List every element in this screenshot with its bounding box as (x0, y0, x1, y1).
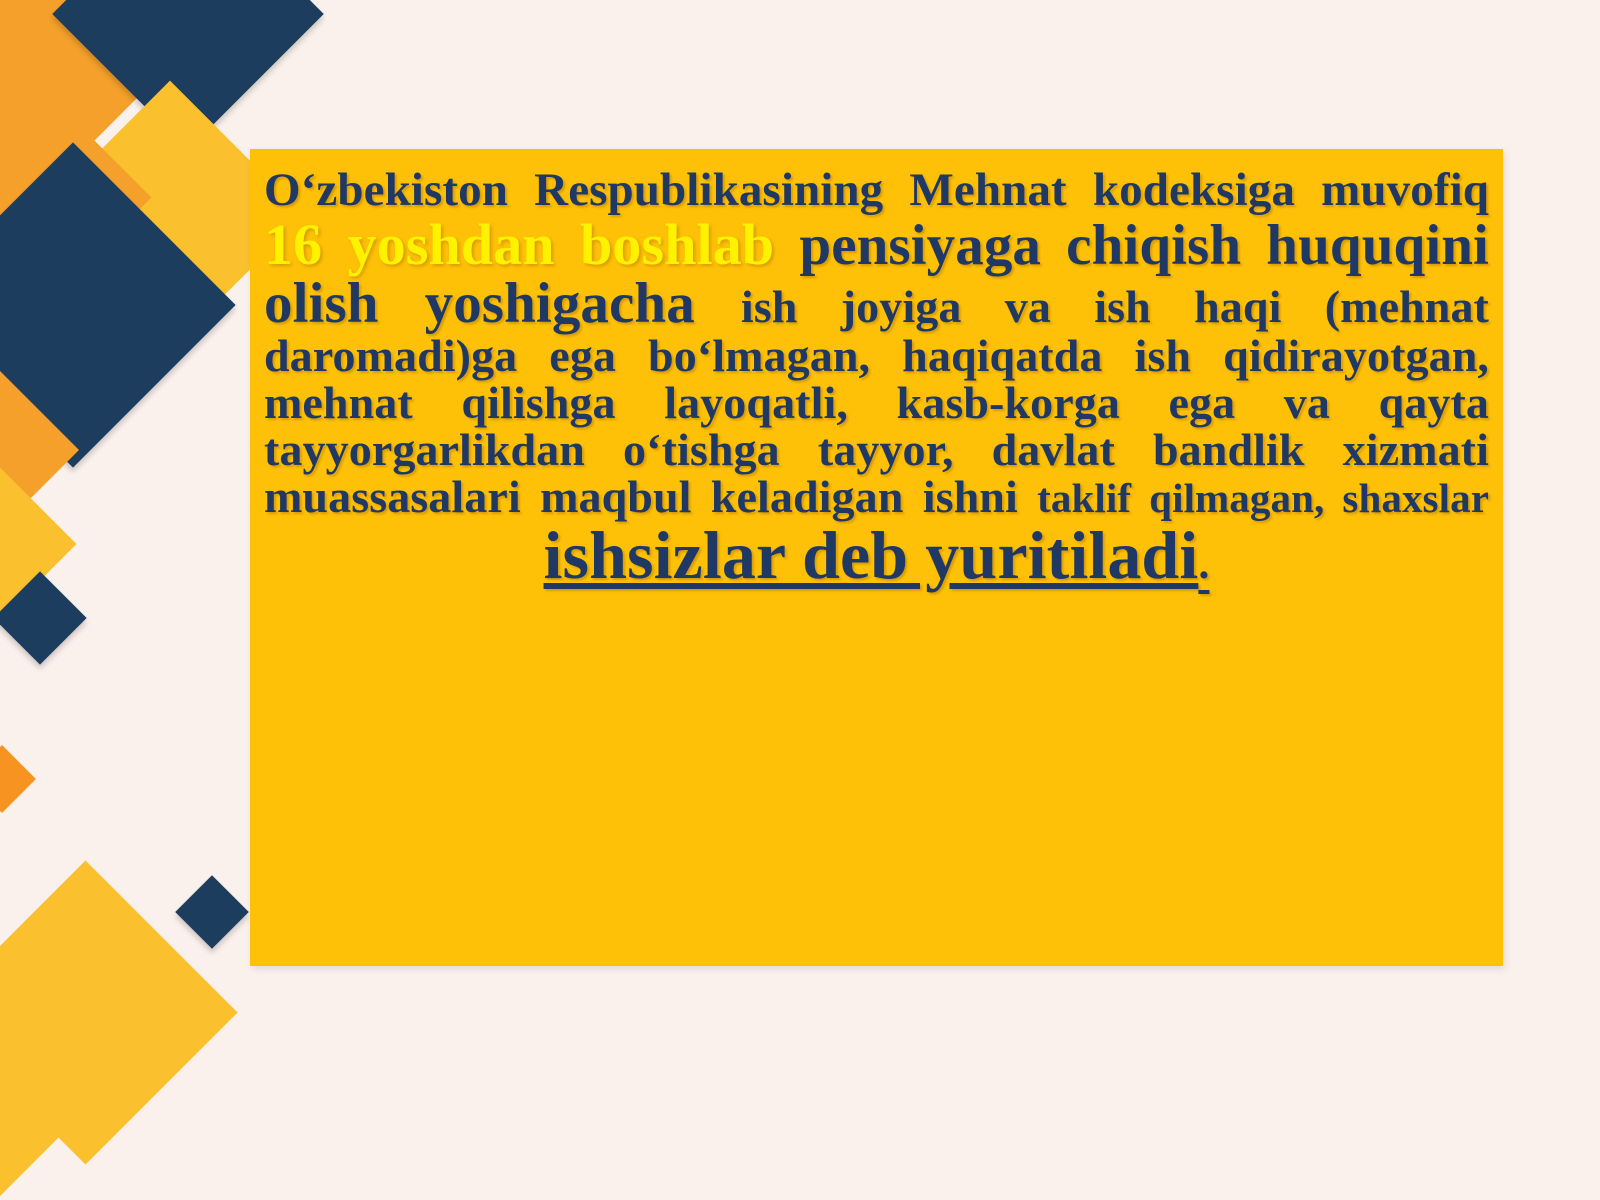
decorative-diamond-yellow-4 (0, 1029, 61, 1200)
decorative-diamond-orange-4 (0, 745, 36, 813)
decorative-diamond-navy-2 (0, 142, 236, 467)
decorative-diamond-orange-3 (0, 351, 79, 549)
decorative-diamond-navy-3 (0, 571, 87, 664)
body-paragraph: O‘zbekiston Respublikasining Mehnat kode… (264, 167, 1489, 590)
slide-canvas: O‘zbekiston Respublikasining Mehnat kode… (0, 0, 1600, 1200)
text-run-term-emphasis: ishsizlar deb yuritiladi (544, 517, 1199, 593)
decorative-diamond-yellow-3 (0, 860, 238, 1164)
text-run-highlight-age: 16 yoshdan boshlab (264, 212, 774, 277)
text-run-final-period: . (1198, 539, 1209, 588)
decorative-diamond-orange-2 (0, 53, 151, 343)
decorative-diamond-navy-1 (52, 0, 324, 150)
decorative-diamond-orange-1 (0, 0, 200, 188)
text-run-intro: O‘zbekiston Respublikasining Mehnat kode… (264, 164, 1489, 216)
text-run-offer-clause: taklif qilmagan, shaxslar (1037, 475, 1489, 521)
decorative-diamond-navy-4 (175, 875, 249, 949)
decorative-diamond-yellow-2 (0, 453, 77, 634)
content-card: O‘zbekiston Respublikasining Mehnat kode… (250, 149, 1503, 966)
